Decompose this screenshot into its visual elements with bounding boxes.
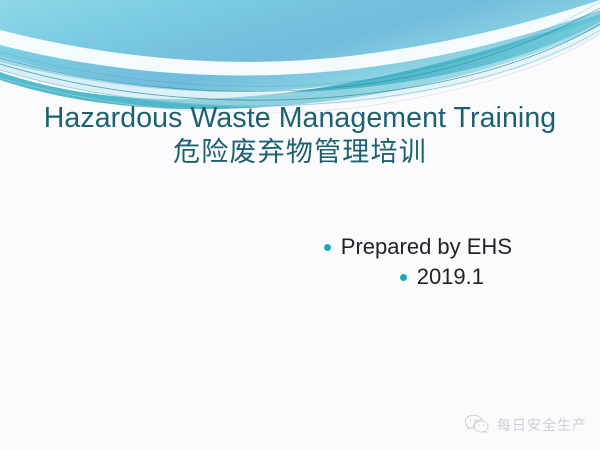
watermark: 每日安全生产 bbox=[464, 414, 587, 436]
wave-line-2 bbox=[0, 30, 600, 106]
bullet-item: 2019.1 bbox=[0, 262, 600, 292]
bullet-dot-icon bbox=[400, 274, 407, 281]
wave-shape-soft bbox=[0, 22, 600, 107]
wave-line-1 bbox=[0, 24, 600, 100]
wave-shape-highlight bbox=[0, 0, 600, 75]
slide-title: Hazardous Waste Management Training 危险废弃… bbox=[0, 101, 600, 169]
bullet-item: Prepared by EHS bbox=[0, 232, 600, 262]
title-line-chinese: 危险废弃物管理培训 bbox=[0, 135, 600, 169]
slide-body: Prepared by EHS 2019.1 bbox=[0, 232, 600, 292]
bullet-label: 2019.1 bbox=[417, 262, 484, 292]
wave-line-3 bbox=[0, 8, 600, 91]
wave-shape-deep bbox=[0, 14, 600, 109]
watermark-label: 每日安全生产 bbox=[497, 415, 587, 435]
wechat-icon bbox=[464, 414, 490, 436]
presentation-slide: Hazardous Waste Management Training 危险废弃… bbox=[0, 0, 600, 450]
bullet-label: Prepared by EHS bbox=[341, 232, 512, 262]
bullet-dot-icon bbox=[324, 244, 331, 251]
wave-shape-main bbox=[0, 0, 600, 92]
title-line-english: Hazardous Waste Management Training bbox=[0, 101, 600, 135]
wave-line-4 bbox=[0, 2, 600, 86]
